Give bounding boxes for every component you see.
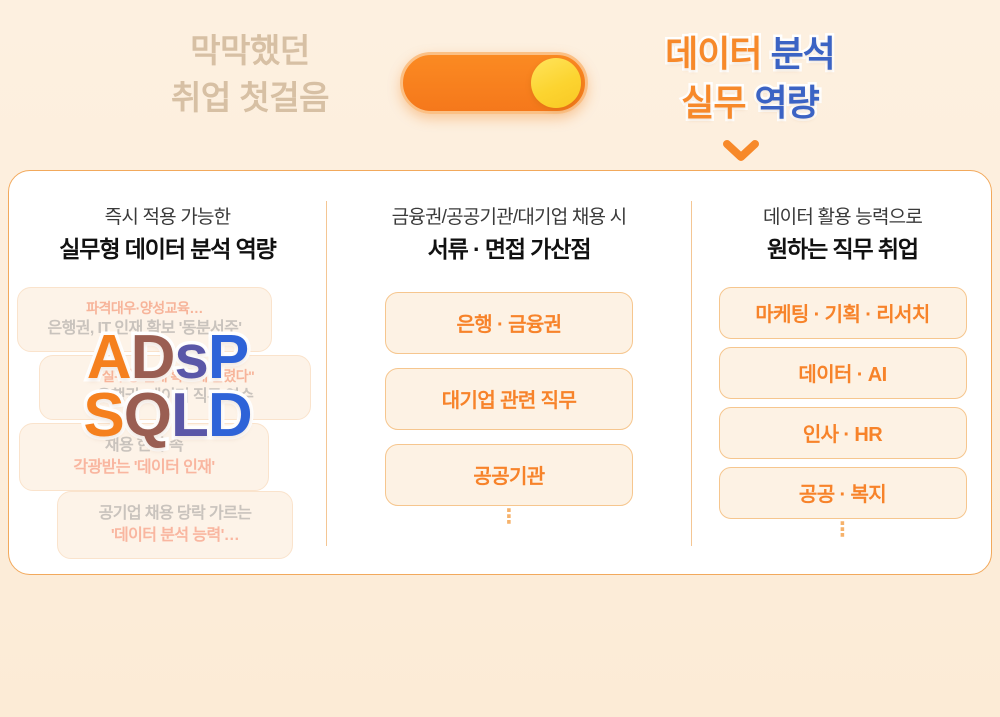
news-headline-bottom: 각광받는 '데이터 인재' bbox=[34, 457, 254, 479]
column-1-header: 즉시 적용 가능한 실무형 데이터 분석 역량 bbox=[9, 171, 326, 265]
hero-right-l2-part1: 실무 bbox=[681, 82, 745, 123]
column-1-subtitle: 즉시 적용 가능한 bbox=[9, 205, 326, 231]
adsp-sqld-logo: ADsP SQLD bbox=[9, 329, 326, 447]
news-card: 공기업 채용 당락 가르는 '데이터 분석 능력'… bbox=[57, 491, 293, 559]
pill-item[interactable]: 데이터 · AI bbox=[719, 347, 967, 399]
on-off-toggle[interactable] bbox=[400, 52, 588, 114]
more-items-ellipsis: ⋮ bbox=[692, 525, 993, 536]
hero-left-line-1: 막막했던 bbox=[150, 28, 350, 75]
pill-item[interactable]: 은행 · 금융권 bbox=[385, 292, 633, 354]
column-3-title: 원하는 직무 취업 bbox=[692, 235, 993, 265]
hero-right-line-1: 데이터 분석 bbox=[630, 30, 870, 79]
news-headline-top: 파격대우·양성교육… bbox=[32, 299, 257, 318]
logo-char: L bbox=[171, 381, 208, 450]
column-3-pill-list: 마케팅 · 기획 · 리서치 데이터 · AI 인사 · HR 공공 · 복지 bbox=[692, 287, 993, 519]
column-2-pill-list: 은행 · 금융권 대기업 관련 직무 공공기관 bbox=[327, 292, 691, 506]
hero-left-heading: 막막했던 취업 첫걸음 bbox=[150, 28, 350, 122]
logo-char: Q bbox=[124, 381, 171, 450]
more-items-ellipsis: ⋮ bbox=[327, 512, 691, 523]
pill-item[interactable]: 공공기관 bbox=[385, 444, 633, 506]
logo-line-sqld: SQLD bbox=[9, 387, 326, 446]
column-job-roles: 데이터 활용 능력으로 원하는 직무 취업 마케팅 · 기획 · 리서치 데이터… bbox=[692, 171, 993, 574]
chevron-down-icon bbox=[723, 140, 759, 162]
hero-right-l2-part2: 역량 bbox=[755, 82, 819, 123]
logo-char: D bbox=[208, 381, 252, 450]
pill-item[interactable]: 대기업 관련 직무 bbox=[385, 368, 633, 430]
column-2-title: 서류 · 면접 가산점 bbox=[327, 235, 691, 265]
hero-right-heading: 데이터 분석 실무 역량 bbox=[630, 30, 870, 127]
column-2-header: 금융권/공공기관/대기업 채용 시 서류 · 면접 가산점 bbox=[327, 171, 691, 265]
news-clippings-group: 파격대우·양성교육… 은행권, IT 인재 확보 '동분서주' "실무형 인재 … bbox=[9, 287, 326, 557]
toggle-knob[interactable] bbox=[531, 58, 581, 108]
column-2-subtitle: 금융권/공공기관/대기업 채용 시 bbox=[327, 205, 691, 231]
pill-item[interactable]: 공공 · 복지 bbox=[719, 467, 967, 519]
column-1-title: 실무형 데이터 분석 역량 bbox=[9, 235, 326, 265]
pill-item[interactable]: 인사 · HR bbox=[719, 407, 967, 459]
hero-left-line-2: 취업 첫걸음 bbox=[150, 75, 350, 122]
news-headline-bottom: '데이터 분석 능력'… bbox=[72, 525, 278, 547]
column-3-subtitle: 데이터 활용 능력으로 bbox=[692, 205, 993, 231]
column-3-header: 데이터 활용 능력으로 원하는 직무 취업 bbox=[692, 171, 993, 265]
hero-header: 막막했던 취업 첫걸음 데이터 분석 실무 역량 bbox=[0, 0, 1000, 170]
logo-char: S bbox=[83, 381, 123, 450]
benefits-panel: 즉시 적용 가능한 실무형 데이터 분석 역량 파격대우·양성교육… 은행권, … bbox=[8, 170, 992, 575]
pill-item[interactable]: 마케팅 · 기획 · 리서치 bbox=[719, 287, 967, 339]
hero-right-l1-part1: 데이터 bbox=[665, 33, 761, 74]
hero-right-l1-part2: 분석 bbox=[771, 33, 835, 74]
hero-right-line-2: 실무 역량 bbox=[630, 79, 870, 128]
news-headline-top: 공기업 채용 당락 가르는 bbox=[72, 503, 278, 525]
column-practical-skills: 즉시 적용 가능한 실무형 데이터 분석 역량 파격대우·양성교육… 은행권, … bbox=[9, 171, 326, 574]
logo-line-adsp: ADsP bbox=[9, 329, 326, 388]
column-hiring-bonus: 금융권/공공기관/대기업 채용 시 서류 · 면접 가산점 은행 · 금융권 대… bbox=[327, 171, 691, 574]
